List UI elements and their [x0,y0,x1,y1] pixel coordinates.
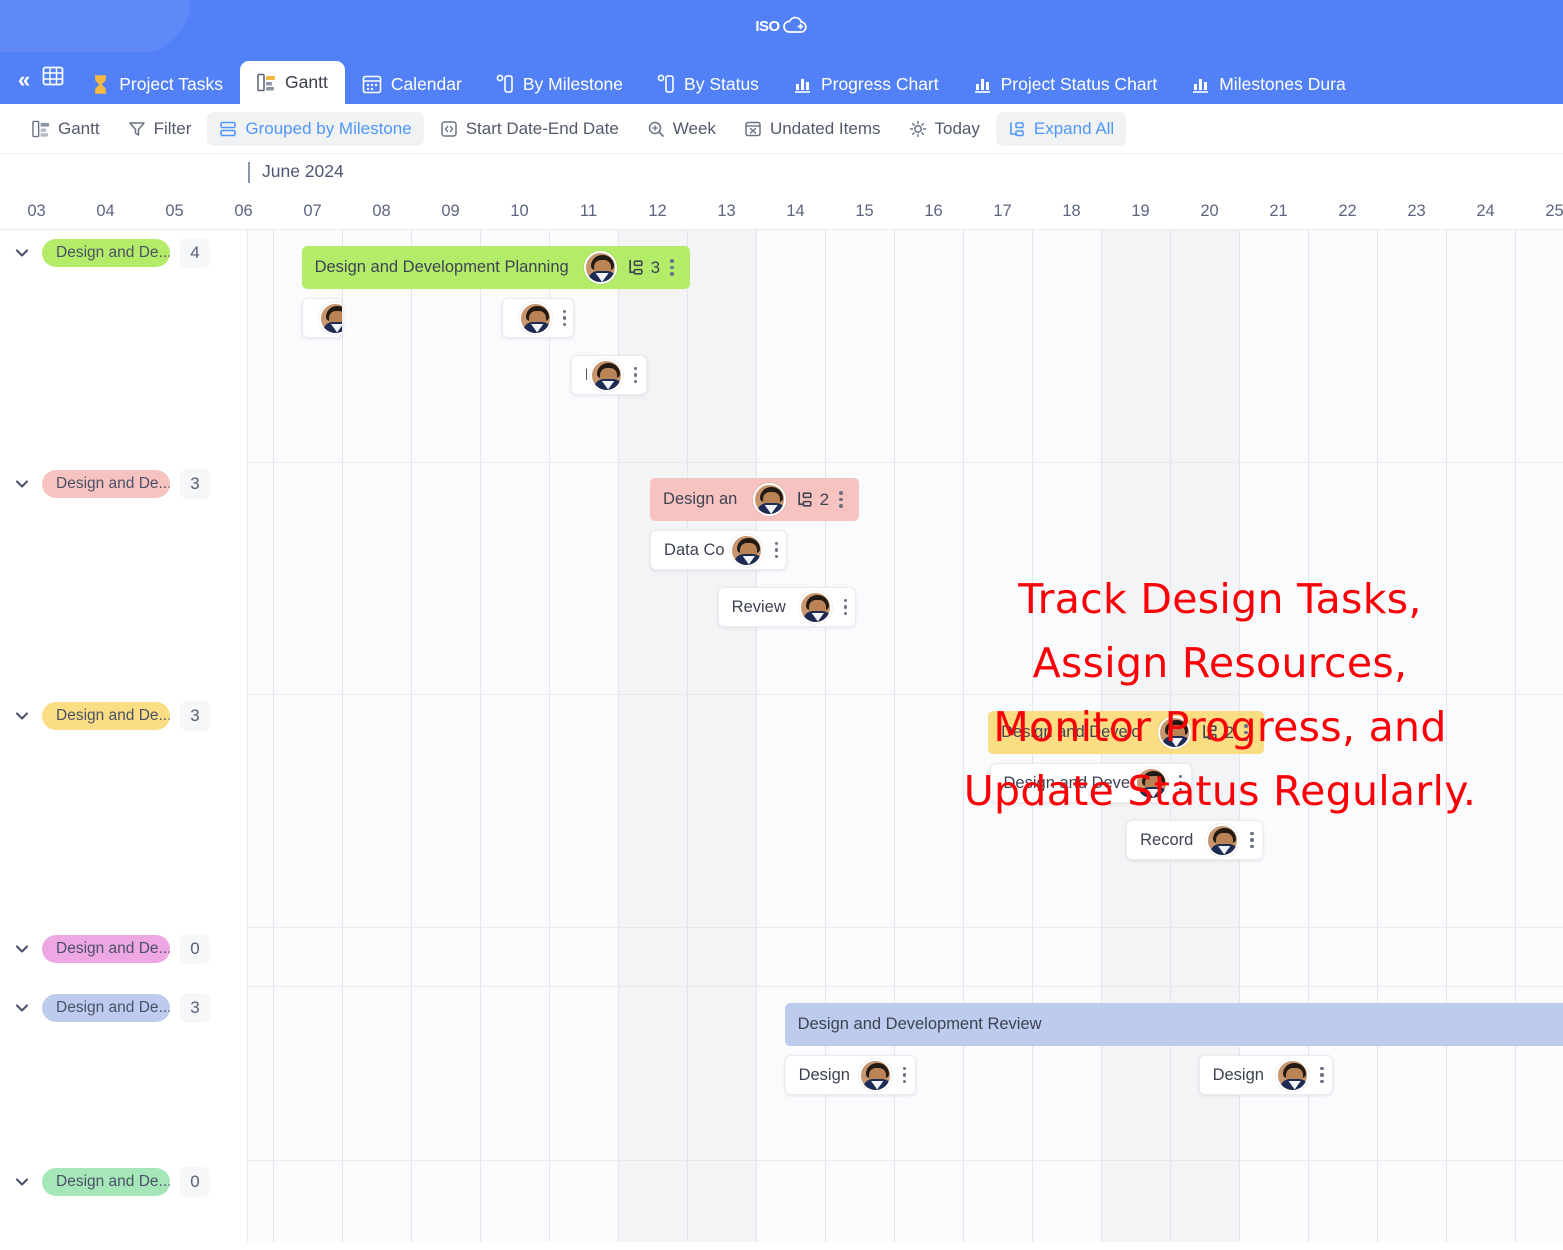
gantt-task-bar[interactable]: Review [718,587,857,627]
toolbar-week-button[interactable]: Week [635,112,728,146]
bar-menu-icon[interactable] [835,599,855,616]
date-range-icon [440,120,458,138]
toolbar-undated-items-button[interactable]: Undated Items [732,112,893,146]
milestone-pill[interactable]: Design and De... [42,239,170,267]
tab-progress-chart[interactable]: Progress Chart [776,64,956,104]
day-column[interactable] [688,230,757,1242]
subtask-count: 2 [789,490,831,510]
bar-menu-icon[interactable] [895,1067,915,1084]
annotation-text: Track Design Tasks, Assign Resources, Mo… [930,568,1510,824]
gantt-task-bar[interactable]: Review [571,355,647,395]
tab-label: Milestones Dura [1219,74,1345,95]
tab-project-status-chart[interactable]: Project Status Chart [956,64,1175,104]
gantt-task-bar[interactable]: Design [785,1055,916,1095]
tab-project-tasks[interactable]: Project Tasks [74,64,240,104]
tab-label: By Status [684,74,759,95]
annotation-line-4: Update Status Regularly. [930,760,1510,824]
milestone-task-count: 0 [180,1167,210,1197]
collapse-sidebar-icon[interactable]: « [12,69,40,104]
assignee-avatar[interactable] [799,591,832,624]
day-tick-label: 05 [140,192,209,230]
day-column[interactable] [1516,230,1563,1242]
assignee-avatar[interactable] [859,1059,892,1092]
toolbar-button-label: Expand All [1034,119,1114,139]
expand-tree-icon [1008,120,1026,138]
milestone-pill[interactable]: Design and De... [42,702,170,730]
bar-label: Design and Development Review [798,1015,1563,1034]
day-tick-label: 19 [1106,192,1175,230]
day-tick-label: 07 [278,192,347,230]
group-rows-icon [219,120,237,138]
milestone-pill[interactable]: Design and De... [42,935,170,963]
day-tick-label: 04 [71,192,140,230]
calendar-icon [362,74,382,94]
toolbar-date-range-button[interactable]: Start Date-End Date [428,112,631,146]
gantt-task-bar[interactable]: Design [1199,1055,1334,1095]
tab-label: Progress Chart [821,74,939,95]
day-tick-label: 22 [1313,192,1382,230]
milestone-task-count: 3 [180,701,210,731]
sun-icon [909,120,927,138]
gantt-icon [257,73,276,92]
assignee-avatar[interactable] [319,302,343,335]
milestone-pill[interactable]: Design and De... [42,470,170,498]
assignee-avatar[interactable] [730,534,763,567]
day-tick-label: 15 [830,192,899,230]
hourglass-icon [91,74,110,95]
day-tick-label: 20 [1175,192,1244,230]
day-tick-label: 18 [1037,192,1106,230]
bar-chart-icon [793,75,812,94]
month-label: June 2024 [248,161,344,182]
tab-label: By Milestone [523,74,623,95]
gantt-task-bar[interactable]: Record [1126,820,1263,860]
milestone-task-count: 4 [180,238,210,268]
chevron-down-icon[interactable] [12,706,32,726]
annotation-line-3: Monitor Progress, and [930,696,1510,760]
toolbar-button-label: Start Date-End Date [466,119,619,139]
day-tick-label: 25 [1520,192,1563,230]
kanban-icon [657,74,675,94]
zoom-in-icon [647,120,665,138]
timeline-day-header: 0304050607080910111213141516171819202122… [0,192,1563,230]
milestone-pill[interactable]: Design and De... [42,1168,170,1196]
day-column[interactable] [343,230,412,1242]
day-tick-label: 13 [692,192,761,230]
gantt-summary-bar[interactable]: Design an2 [650,478,859,521]
day-tick-label: 09 [416,192,485,230]
bar-label: Design [799,1066,856,1085]
tab-label: Gantt [285,72,328,93]
milestone-pill[interactable]: Design and De... [42,994,170,1022]
filter-icon [128,120,146,138]
bar-label: Design [1213,1066,1274,1085]
bar-menu-icon[interactable] [1242,832,1262,849]
bar-menu-icon[interactable] [662,259,682,276]
subtask-tree-icon [796,490,815,509]
gantt-icon [32,120,50,138]
bar-label: Data Co [664,541,727,560]
tab-milestones-duration[interactable]: Milestones Dura [1174,64,1362,104]
tab-calendar[interactable]: Calendar [345,64,479,104]
table-grid-icon[interactable] [40,65,74,104]
bar-menu-icon[interactable] [626,367,646,384]
day-tick-label: 11 [554,192,623,230]
day-column-partial[interactable] [248,230,274,1242]
app-logo: ISO [755,15,807,37]
cloud-icon [782,15,808,37]
milestone-group-row[interactable]: Design and De...0 [0,1167,248,1197]
bar-label: Review [585,366,587,385]
toolbar-button-label: Today [935,119,980,139]
no-date-icon [744,120,762,138]
assignee-avatar[interactable] [753,483,786,516]
bar-menu-icon[interactable] [766,542,786,559]
tab-by-status[interactable]: By Status [640,64,776,104]
bar-chart-icon [1191,75,1210,94]
assignee-avatar[interactable] [590,359,623,392]
chevron-down-icon[interactable] [12,243,32,263]
bar-menu-icon[interactable] [1312,1067,1332,1084]
toolbar-button-label: Undated Items [770,119,881,139]
kanban-icon [496,74,514,94]
milestone-task-count: 0 [180,934,210,964]
gantt-summary-bar[interactable]: Design and Development Review [785,1003,1563,1046]
toolbar-button-label: Week [673,119,716,139]
toolbar-filter-button[interactable]: Filter [116,112,204,146]
day-tick-label: 12 [623,192,692,230]
day-tick-label: 17 [968,192,1037,230]
day-tick-label: 23 [1382,192,1451,230]
day-tick-label: 14 [761,192,830,230]
milestone-group-row[interactable]: Design and De...3 [0,701,248,731]
day-tick-label: 21 [1244,192,1313,230]
milestone-task-count: 3 [180,469,210,499]
bar-label: Design and Development Planning [315,258,581,277]
day-tick-label: 16 [899,192,968,230]
gantt-task-bar[interactable]: Plan the [502,298,574,338]
timeline-month-header: June 2024 [0,154,1563,192]
toolbar-gantt-button[interactable]: Gantt [20,112,112,146]
tab-label: Project Tasks [119,74,223,95]
toolbar-today-button[interactable]: Today [897,112,992,146]
bar-menu-icon[interactable] [831,491,851,508]
bar-menu-icon[interactable] [555,310,574,327]
gantt-body: Design and De...4Design and De...3Design… [0,230,1563,1242]
bar-label: Record [1140,831,1203,850]
gantt-toolbar[interactable]: Gantt Filter Grouped by Milestone Start … [0,104,1563,154]
milestone-group-row[interactable]: Design and De...0 [0,934,248,964]
annotation-line-2: Assign Resources, [930,632,1510,696]
assignee-avatar[interactable] [584,251,617,284]
app-header: ISO [0,0,1563,52]
day-tick-label: 08 [347,192,416,230]
assignee-avatar[interactable] [1276,1059,1309,1092]
bar-chart-icon [973,75,992,94]
milestone-group-row[interactable]: Design and De...3 [0,993,248,1023]
day-tick-label: 10 [485,192,554,230]
bar-label: Design an [663,490,750,509]
tab-label: Calendar [391,74,462,95]
chevron-down-icon[interactable] [12,998,32,1018]
tab-by-milestone[interactable]: By Milestone [479,64,640,104]
tab-gantt[interactable]: Gantt [240,61,345,104]
subtask-tree-icon [627,258,646,277]
chevron-down-icon[interactable] [12,1172,32,1192]
toolbar-button-label: Grouped by Milestone [245,119,411,139]
chevron-down-icon[interactable] [12,474,32,494]
gantt-summary-bar[interactable]: Design and Development Planning3 [302,246,690,289]
gantt-task-bar[interactable] [302,298,343,338]
tab-label: Project Status Chart [1001,74,1158,95]
annotation-line-1: Track Design Tasks, [930,568,1510,632]
view-tab-strip[interactable]: « Project Tasks Gantt [0,52,1563,104]
milestone-group-row[interactable]: Design and De...4 [0,238,248,268]
toolbar-button-label: Filter [154,119,192,139]
milestone-task-count: 3 [180,993,210,1023]
toolbar-grouped-by-milestone-button[interactable]: Grouped by Milestone [207,112,423,146]
milestone-list-column [0,230,248,1242]
milestone-group-row[interactable]: Design and De...3 [0,469,248,499]
assignee-avatar[interactable] [1206,824,1239,857]
assignee-avatar[interactable] [519,302,552,335]
day-tick-label: 03 [2,192,71,230]
day-column[interactable] [412,230,481,1242]
toolbar-expand-all-button[interactable]: Expand All [996,112,1126,146]
bar-label: Review [732,598,797,617]
toolbar-button-label: Gantt [58,119,100,139]
day-tick-label: 24 [1451,192,1520,230]
chevron-down-icon[interactable] [12,939,32,959]
subtask-count: 3 [620,258,662,278]
logo-text: ISO [755,18,779,35]
day-column[interactable] [481,230,550,1242]
day-tick-label: 06 [209,192,278,230]
day-column[interactable] [274,230,343,1242]
gantt-task-bar[interactable]: Data Co [650,530,787,570]
